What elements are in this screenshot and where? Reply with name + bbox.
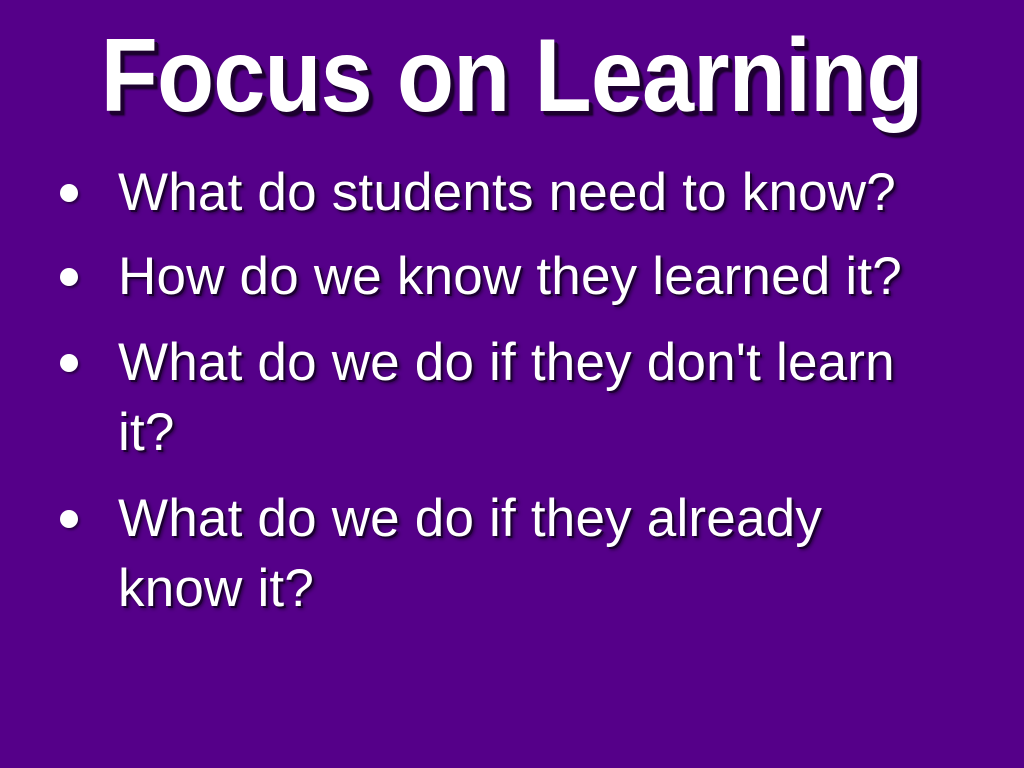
bullet-list: What do students need to know? How do we…: [52, 158, 972, 640]
bullet-point-icon: [60, 268, 78, 286]
list-item: What do students need to know?: [52, 158, 972, 228]
slide-title-block: Focus on Learning: [0, 22, 1024, 152]
bullet-point-icon: [60, 510, 78, 528]
list-item-label: How do we know they learned it?: [118, 242, 908, 312]
list-item-label: What do we do if they already know it?: [118, 484, 908, 624]
list-item: What do we do if they don't learn it?: [52, 328, 972, 468]
bullet-point-icon: [60, 184, 78, 202]
list-item: How do we know they learned it?: [52, 242, 972, 312]
list-item-label: What do we do if they don't learn it?: [118, 328, 908, 468]
list-item: What do we do if they already know it?: [52, 484, 972, 624]
list-item-label: What do students need to know?: [118, 158, 908, 228]
bullet-point-icon: [60, 354, 78, 372]
page-title: Focus on Learning: [101, 22, 923, 130]
presentation-slide: Focus on Learning What do students need …: [0, 0, 1024, 768]
